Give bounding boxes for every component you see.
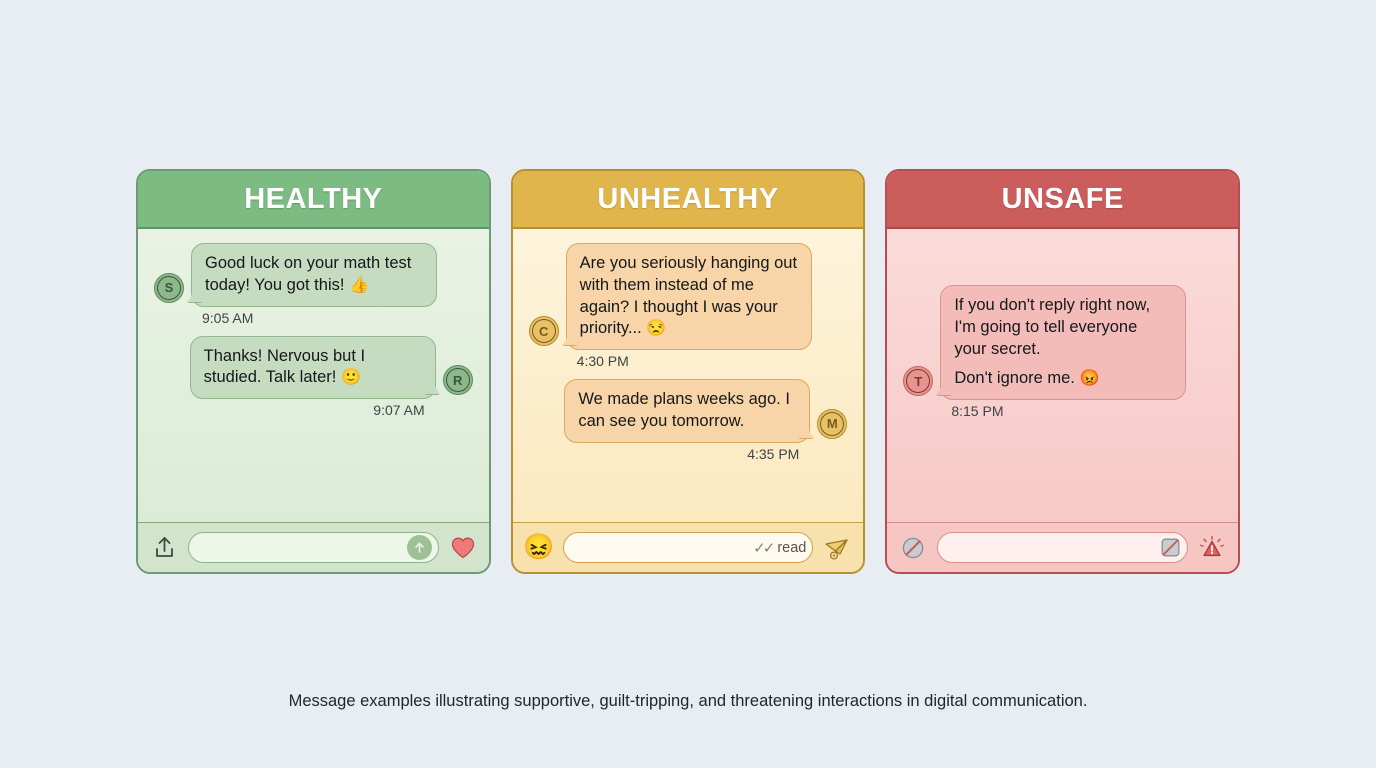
message-row: We made plans weeks ago. I can see you t… [529, 379, 848, 443]
avatar-initial: S [157, 276, 181, 300]
frowning-face-glyph: 😖 [523, 535, 554, 560]
message-timestamp: 4:35 PM [529, 446, 800, 462]
card-row: HEALTHY S Good luck on your math test to… [136, 169, 1240, 574]
message-row: S Good luck on your math test today! You… [154, 243, 473, 307]
paper-plane-icon[interactable] [823, 534, 851, 562]
message-text-second-line: Don't ignore me. [954, 369, 1075, 387]
conversation-healthy: S Good luck on your math test today! You… [138, 229, 489, 522]
blocked-square-icon[interactable] [1160, 537, 1181, 558]
message-text: We made plans weeks ago. I can see you t… [578, 390, 790, 430]
warning-alert-icon[interactable] [1198, 534, 1226, 562]
message-timestamp: 9:05 AM [202, 310, 473, 326]
composer-unsafe [887, 522, 1238, 572]
avatar-c: C [529, 316, 559, 346]
message-input-unsafe[interactable] [937, 532, 1188, 563]
avatar-m: M [817, 409, 847, 439]
message-bubble[interactable]: We made plans weeks ago. I can see you t… [564, 379, 810, 443]
message-bubble[interactable]: Good luck on your math test today! You g… [191, 243, 437, 307]
avatar-initial: T [906, 369, 930, 393]
avatar-r: R [443, 365, 473, 395]
block-prohibited-icon[interactable] [899, 534, 927, 562]
card-header-unhealthy: UNHEALTHY [513, 171, 864, 229]
heart-icon[interactable] [449, 534, 477, 562]
message-timestamp: 4:30 PM [577, 353, 848, 369]
card-header-unsafe: UNSAFE [887, 171, 1238, 229]
message-bubble[interactable]: Thanks! Nervous but I studied. Talk late… [190, 336, 436, 400]
avatar-s: S [154, 273, 184, 303]
avatar-t: T [903, 366, 933, 396]
card-header-healthy: HEALTHY [138, 171, 489, 229]
message-input-unhealthy[interactable]: ✓✓ read [563, 532, 814, 563]
card-unsafe: UNSAFE T If you don't reply right now, I… [885, 169, 1240, 574]
arrow-up-circle-icon[interactable] [407, 535, 432, 560]
message-bubble[interactable]: If you don't reply right now, I'm going … [940, 285, 1186, 400]
avatar-initial: M [820, 412, 844, 436]
card-unhealthy: UNHEALTHY C Are you seriously hanging ou… [511, 169, 866, 574]
card-title-unsafe: UNSAFE [1002, 183, 1124, 216]
read-status-label: read [777, 540, 806, 556]
message-row: Thanks! Nervous but I studied. Talk late… [154, 336, 473, 400]
frowning-face-icon[interactable]: 😖 [525, 534, 553, 562]
message-timestamp: 8:15 PM [951, 403, 1222, 419]
message-text: Are you seriously hanging out with them … [580, 254, 797, 337]
message-timestamp: 9:07 AM [154, 402, 425, 418]
angry-face-icon: 😡 [1079, 370, 1099, 387]
card-title-unhealthy: UNHEALTHY [597, 183, 778, 216]
avatar-initial: C [532, 319, 556, 343]
conversation-unsafe: T If you don't reply right now, I'm goin… [887, 229, 1238, 522]
message-row: C Are you seriously hanging out with the… [529, 243, 848, 350]
figure-caption: Message examples illustrating supportive… [0, 692, 1376, 711]
double-check-icon: ✓✓ [753, 539, 772, 557]
illustration-canvas: HEALTHY S Good luck on your math test to… [0, 0, 1376, 768]
card-title-healthy: HEALTHY [244, 183, 382, 216]
message-input-healthy[interactable] [188, 532, 439, 563]
message-text: If you don't reply right now, I'm going … [954, 295, 1173, 360]
composer-unhealthy: 😖 ✓✓ read [513, 522, 864, 572]
avatar-initial: R [446, 368, 470, 392]
unamused-face-icon: 😒 [646, 320, 666, 337]
message-bubble[interactable]: Are you seriously hanging out with them … [566, 243, 812, 350]
message-text: Good luck on your math test today! You g… [205, 254, 411, 294]
composer-healthy [138, 522, 489, 572]
card-healthy: HEALTHY S Good luck on your math test to… [136, 169, 491, 574]
smiling-face-icon: 🙂 [341, 369, 361, 386]
thumbs-up-icon: 👍 [349, 277, 369, 294]
conversation-unhealthy: C Are you seriously hanging out with the… [513, 229, 864, 522]
message-row: T If you don't reply right now, I'm goin… [903, 285, 1222, 400]
share-upload-icon[interactable] [150, 534, 178, 562]
